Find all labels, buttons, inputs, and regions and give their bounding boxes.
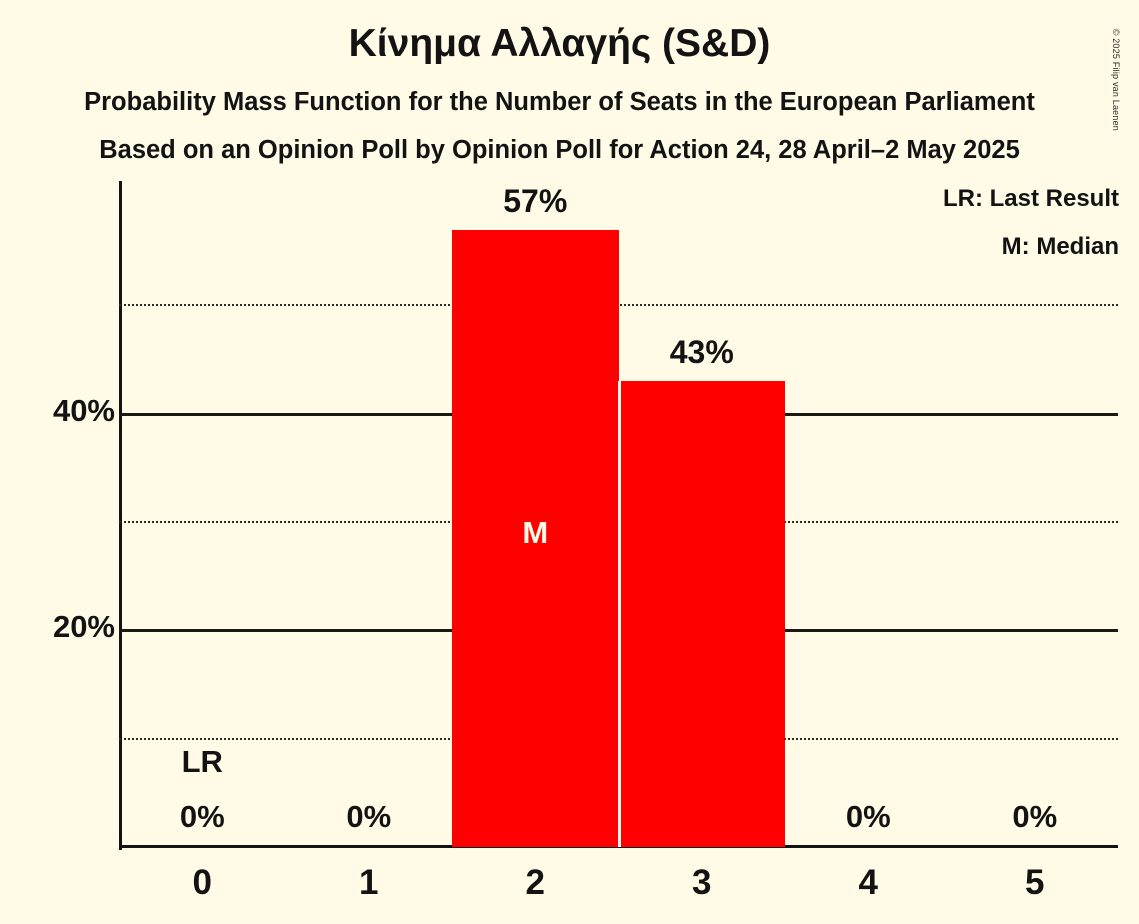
copyright-notice: © 2025 Filip van Laenen xyxy=(1111,0,1121,131)
x-tick-label-1: 1 xyxy=(286,863,453,903)
pmf-bar-chart: Κίνημα Αλλαγής (S&D) Probability Mass Fu… xyxy=(0,0,1139,924)
gridline-50 xyxy=(119,304,1118,306)
bar-value-label-0: 0% xyxy=(119,799,286,835)
bar-separator xyxy=(618,381,621,847)
chart-title: Κίνημα Αλλαγής (S&D) xyxy=(0,22,1119,66)
y-tick-label: 40% xyxy=(15,393,115,429)
y-tick-label: 20% xyxy=(15,609,115,645)
x-tick-label-4: 4 xyxy=(785,863,952,903)
last-result-marker: LR xyxy=(119,744,286,780)
chart-source-subtitle: Based on an Opinion Poll by Opinion Poll… xyxy=(0,136,1119,165)
bar-value-label-3: 43% xyxy=(619,334,786,371)
bar-value-label-1: 0% xyxy=(286,799,453,835)
x-tick-label-2: 2 xyxy=(452,863,619,903)
bar-value-label-4: 0% xyxy=(785,799,952,835)
chart-subtitle: Probability Mass Function for the Number… xyxy=(0,88,1119,117)
bar-value-label-2: 57% xyxy=(452,183,619,220)
x-tick-label-0: 0 xyxy=(119,863,286,903)
median-marker: M xyxy=(452,515,619,551)
x-tick-label-5: 5 xyxy=(952,863,1119,903)
bar-3 xyxy=(619,381,786,847)
x-tick-label-3: 3 xyxy=(619,863,786,903)
bar-value-label-5: 0% xyxy=(952,799,1119,835)
